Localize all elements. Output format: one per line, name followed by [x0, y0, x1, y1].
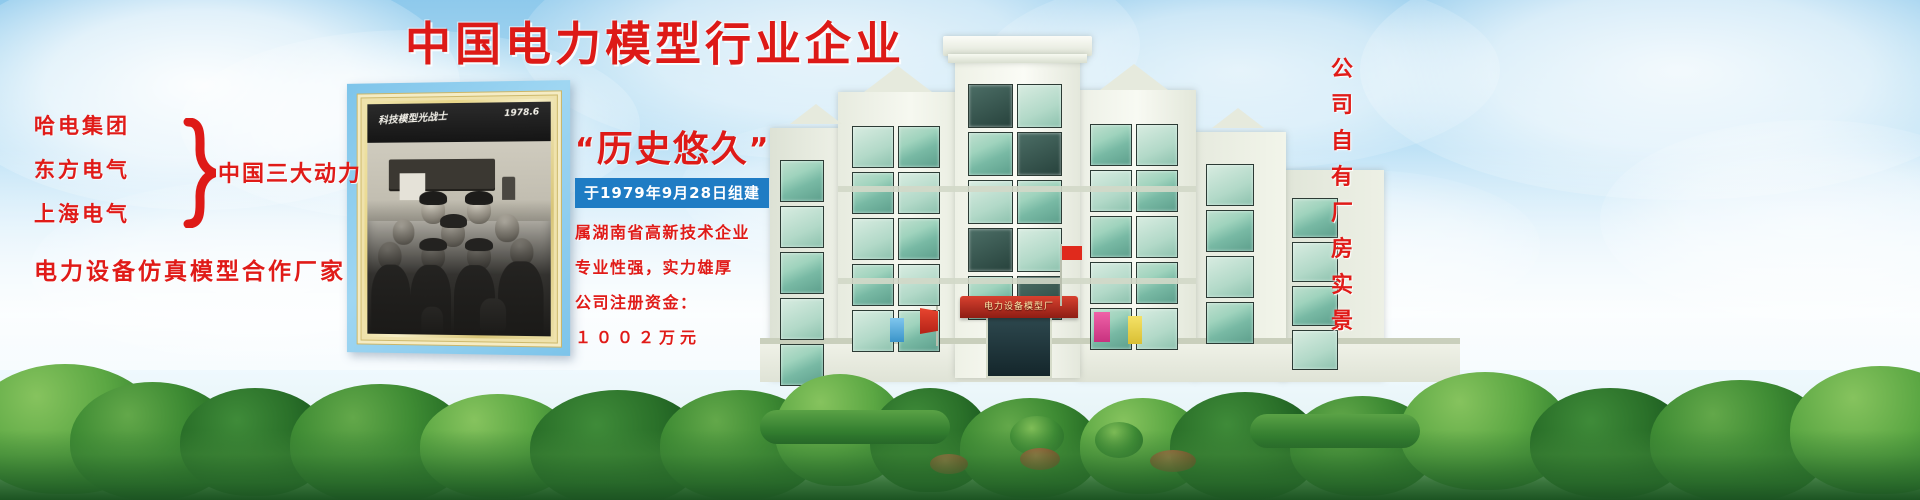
detail-line: 专业性强，实力雄厚	[575, 254, 805, 278]
promo-banner: 电力设备模型厂	[0, 0, 1920, 500]
vertical-char: 自	[1322, 124, 1362, 160]
founding-date-badge: 于1979年9月28日组建	[575, 178, 769, 208]
page-title: 中国电力模型行业企业	[0, 8, 1310, 74]
curly-brace-icon	[182, 118, 216, 228]
grass-foreground	[0, 430, 1920, 500]
vertical-char: 厂	[1322, 196, 1362, 232]
photo-object	[502, 177, 515, 200]
quote-open: “	[575, 132, 597, 167]
photo-banner-strip: 科技模型光战士 1978.6	[367, 102, 550, 144]
detail-line: 公司注册资金：	[575, 289, 805, 313]
registered-capital-amount: １００２万元	[575, 324, 805, 348]
quote-close: ”	[749, 132, 771, 167]
greenery-layer	[0, 315, 1920, 500]
entrance-sign: 电力设备模型厂	[966, 299, 1072, 315]
vertical-char: 实	[1322, 268, 1362, 304]
history-headline-text: 历史悠久	[597, 129, 749, 170]
group-label: 中国三大动力	[218, 156, 362, 188]
red-flag	[1062, 246, 1082, 260]
historic-photo: 科技模型光战士 1978.6	[367, 102, 550, 337]
partner-tagline: 电力设备仿真模型合作厂家	[34, 252, 346, 286]
vertical-char: 司	[1322, 88, 1362, 124]
historic-photo-frame: 科技模型光战士 1978.6	[347, 80, 570, 356]
building-floor-band	[838, 278, 1196, 284]
right-vertical-caption: 公 司 自 有 厂 房 实 景	[1322, 52, 1362, 340]
vertical-char: 有	[1322, 160, 1362, 196]
photo-banner-text: 科技模型光战士	[378, 108, 448, 127]
photo-crowd-shading	[367, 200, 550, 336]
building-floor-band	[838, 186, 1196, 192]
vertical-char: 公	[1322, 52, 1362, 88]
vertical-char: 景	[1322, 304, 1362, 340]
history-text-block: “历史悠久” 于1979年9月28日组建 属湖南省高新技术企业 专业性强，实力雄…	[575, 128, 805, 348]
company-list: 哈电集团 东方电气 上海电气 中国三大动力	[34, 104, 209, 236]
history-headline: “历史悠久”	[575, 128, 805, 172]
gold-frame-border: 科技模型光战士 1978.6	[357, 90, 562, 347]
left-text-block: 哈电集团 东方电气 上海电气 中国三大动力 电力设备仿真模型合作厂家	[34, 104, 364, 236]
window-grid-center	[968, 84, 1062, 320]
detail-line: 属湖南省高新技术企业	[575, 219, 805, 243]
photo-banner-year: 1978.6	[504, 108, 539, 120]
building-pediment	[1212, 108, 1264, 128]
vertical-char: 房	[1322, 232, 1362, 268]
cloud-shape	[1600, 120, 1920, 320]
building-pediment	[790, 104, 842, 124]
